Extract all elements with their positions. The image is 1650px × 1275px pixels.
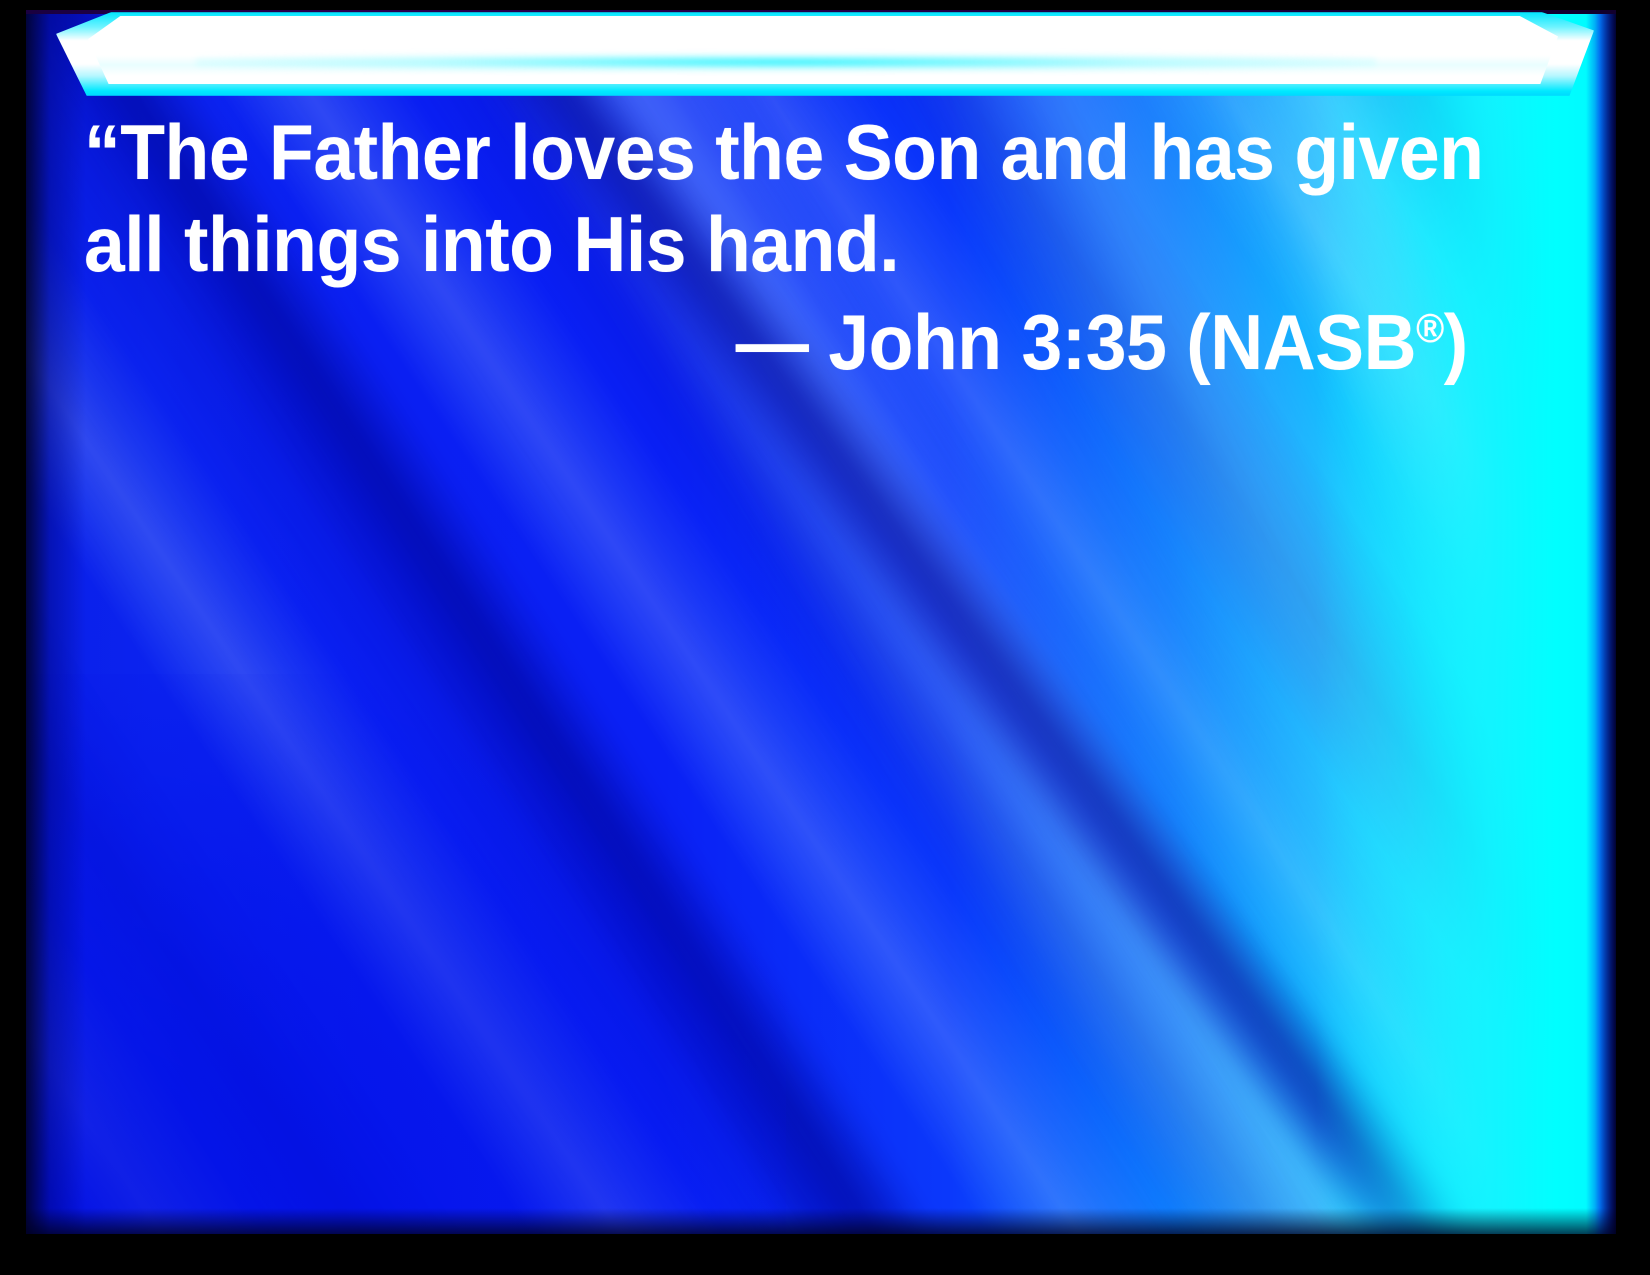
top-light-bar: [26, 10, 1616, 106]
attribution-suffix: ): [1444, 298, 1468, 386]
verse-line-1: “The Father loves the Son and has given: [84, 106, 1475, 198]
background-right-vignette: [1586, 10, 1616, 1234]
registered-trademark-icon: ®: [1416, 305, 1444, 351]
verse-slide: “The Father loves the Son and has given …: [0, 0, 1650, 1275]
slide-canvas: “The Father loves the Son and has given …: [26, 10, 1616, 1234]
background-bottom-vignette: [26, 1208, 1616, 1234]
top-light-bar-white-core: [88, 16, 1558, 84]
verse-text-block: “The Father loves the Son and has given …: [84, 106, 1475, 388]
background-corner-shadow: [26, 674, 786, 1234]
top-light-bar-inner-glow: [196, 54, 1376, 70]
attribution-prefix: — John 3:35 (NASB: [736, 298, 1417, 386]
verse-attribution: — John 3:35 (NASB®): [84, 296, 1475, 388]
background-left-vignette: [26, 10, 86, 1234]
verse-line-2: all things into His hand.: [84, 198, 1475, 290]
